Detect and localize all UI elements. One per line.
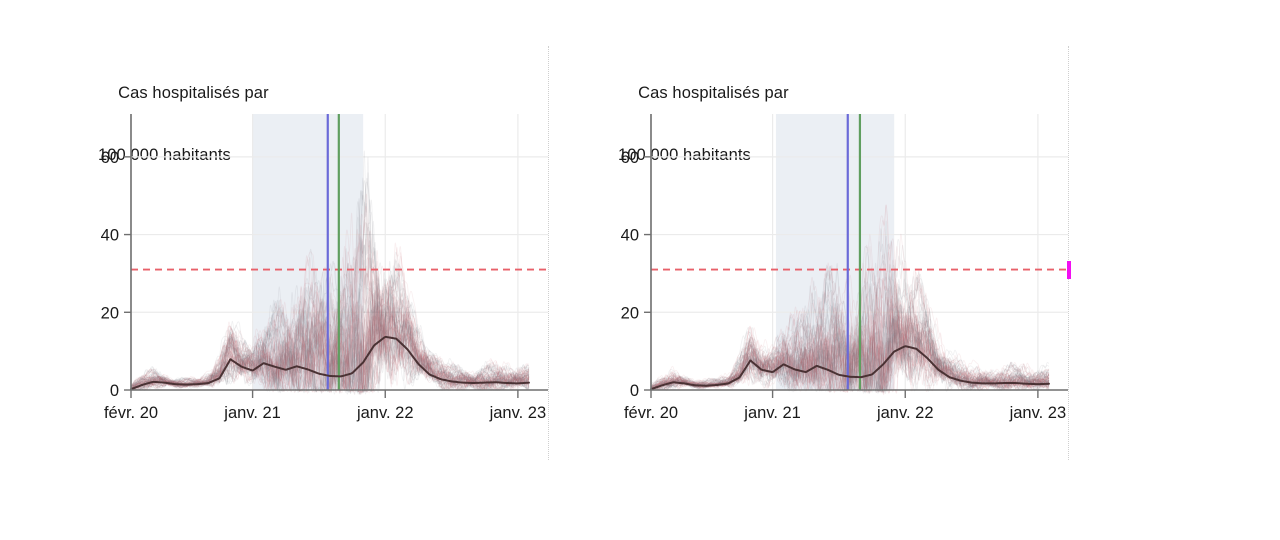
y-tick-label-3: 60 bbox=[621, 149, 639, 167]
y-tick-label-2: 40 bbox=[101, 227, 119, 245]
y-tick-label-0: 0 bbox=[630, 382, 639, 400]
x-tick-label-0: févr. 20 bbox=[104, 404, 158, 422]
y-tick-label-1: 20 bbox=[101, 304, 119, 322]
right-panel: Cas hospitalisés par 100 000 habitants 0… bbox=[520, 0, 1068, 540]
x-tick-label-1: janv. 21 bbox=[223, 404, 281, 422]
panel-divider-right bbox=[1068, 46, 1069, 460]
left-panel: Cas hospitalisés par 100 000 habitants 0… bbox=[0, 0, 548, 540]
y-tick-label-3: 60 bbox=[101, 149, 119, 167]
left-panel-plot: 0204060févr. 20janv. 21janv. 22janv. 23 bbox=[0, 0, 548, 540]
right-panel-plot: 0204060févr. 20janv. 21janv. 22janv. 23 bbox=[520, 0, 1068, 540]
x-tick-label-1: janv. 21 bbox=[743, 404, 801, 422]
x-tick-label-0: févr. 20 bbox=[624, 404, 678, 422]
edge-marker-magenta bbox=[1067, 261, 1071, 279]
x-tick-label-2: janv. 22 bbox=[876, 404, 934, 422]
y-tick-label-2: 40 bbox=[621, 227, 639, 245]
y-tick-label-1: 20 bbox=[621, 304, 639, 322]
y-tick-label-0: 0 bbox=[110, 382, 119, 400]
x-tick-label-2: janv. 22 bbox=[356, 404, 414, 422]
figure-canvas: Cas hospitalisés par 100 000 habitants 0… bbox=[0, 0, 1280, 540]
x-tick-label-3: janv. 23 bbox=[1009, 404, 1067, 422]
